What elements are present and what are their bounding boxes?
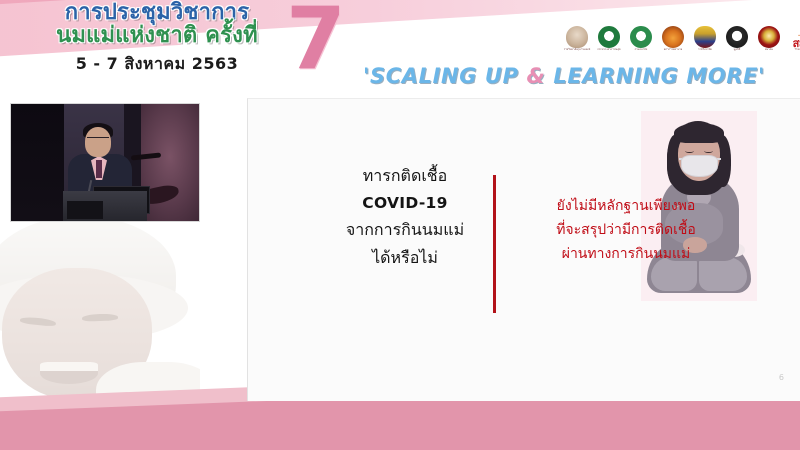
health-dept-icon <box>630 26 652 48</box>
question-line-4: ได้หรือไม่ <box>320 244 490 272</box>
sponsor-logo-strip: ราชวิทยาลัยกุมารแพทย์ กระทรวงสาธารณสุข ก… <box>563 22 800 52</box>
black-emblem-logo: มูลนิธิ <box>723 22 751 52</box>
podium-panel <box>67 201 103 219</box>
slide-panel: ทารกติดเชื้อ COVID-19 จากการกินนมแม่ ได้… <box>247 98 800 401</box>
question-line-3: จากการกินนมแม่ <box>320 216 490 244</box>
answer-text-block: ยังไม่มีหลักฐานเพียงพอ ที่จะสรุปว่ามีการ… <box>510 195 742 266</box>
conference-title: การประชุมวิชาการ นมแม่แห่งชาติ ครั้งที่ … <box>22 2 292 77</box>
thaihealth-subcaption: Thai Health <box>795 49 800 52</box>
slide-screenshot: 7 การประชุมวิชาการ นมแม่แห่งชาติ ครั้งที… <box>0 0 800 450</box>
question-line-1: ทารกติดเชื้อ <box>320 162 490 190</box>
mother-eye-right <box>704 149 713 153</box>
photo-fade-overlay <box>0 222 200 412</box>
mother-eye-left <box>685 149 694 153</box>
royal-seal-logo: ราชวิทยาลัยกุมารแพทย์ <box>563 22 591 52</box>
speaker-tie <box>96 160 102 178</box>
red-divider-bar <box>493 175 496 313</box>
logo-caption: สมาคม <box>765 49 773 52</box>
conference-title-line2: นมแม่แห่งชาติ ครั้งที่ <box>22 25 292 47</box>
question-line-2: COVID-19 <box>320 190 490 217</box>
thaihealth-sss-logo: ••• สสส Thai Health <box>787 22 800 52</box>
logo-caption: มูลนิธิ <box>734 49 741 52</box>
conference-tagline: 'SCALING UP & LEARNING MORE' <box>363 64 765 88</box>
answer-line-3: ผ่านทางการกินนมแม่ <box>510 243 742 267</box>
conference-title-line1: การประชุมวิชาการ <box>22 2 292 24</box>
royal-crest-logo: ราชวิทยาลัย <box>691 22 719 52</box>
answer-line-1: ยังไม่มีหลักฐานเพียงพอ <box>510 195 742 219</box>
logo-caption: กรมอนามัย <box>635 49 648 52</box>
speaker-glasses-icon <box>87 137 109 144</box>
tagline-prefix: 'SCALING UP <box>363 64 527 88</box>
logo-caption: สภาการพยาบาล <box>664 49 683 52</box>
health-dept-logo: กรมอนามัย <box>627 22 655 52</box>
logo-caption: ราชวิทยาลัย <box>698 49 712 52</box>
conference-dates: 5 - 7 สิงหาคม 2563 <box>22 52 292 77</box>
page-number: 6 <box>779 373 784 382</box>
black-emblem-icon <box>726 26 748 48</box>
footer-ribbon-base <box>0 440 800 450</box>
red-seal-icon <box>758 26 780 48</box>
question-text-block: ทารกติดเชื้อ COVID-19 จากการกินนมแม่ ได้… <box>320 162 490 271</box>
tagline-suffix: LEARNING MORE' <box>545 64 765 88</box>
ministry-health-icon <box>598 26 620 48</box>
royal-crest-icon <box>694 26 716 48</box>
royal-seal-icon <box>566 26 588 48</box>
speaker-presentation-video[interactable] <box>10 103 200 222</box>
tagline-ampersand: & <box>527 64 546 88</box>
mother-fringe <box>674 123 724 143</box>
thai-emblem-orange-logo: สภาการพยาบาล <box>659 22 687 52</box>
video-wall-left <box>11 104 64 221</box>
edition-number: 7 <box>286 0 344 82</box>
ministry-health-logo: กระทรวงสาธารณสุข <box>595 22 623 52</box>
logo-caption: ราชวิทยาลัยกุมารแพทย์ <box>564 49 591 52</box>
red-seal-logo: สมาคม <box>755 22 783 52</box>
thai-emblem-orange-icon <box>662 26 684 48</box>
answer-line-2: ที่จะสรุปว่ามีการติดเชื้อ <box>510 219 742 243</box>
conference-header-banner: 7 การประชุมวิชาการ นมแม่แห่งชาติ ครั้งที… <box>0 0 800 96</box>
logo-caption: กระทรวงสาธารณสุข <box>597 49 620 52</box>
face-mask-icon <box>681 155 718 177</box>
